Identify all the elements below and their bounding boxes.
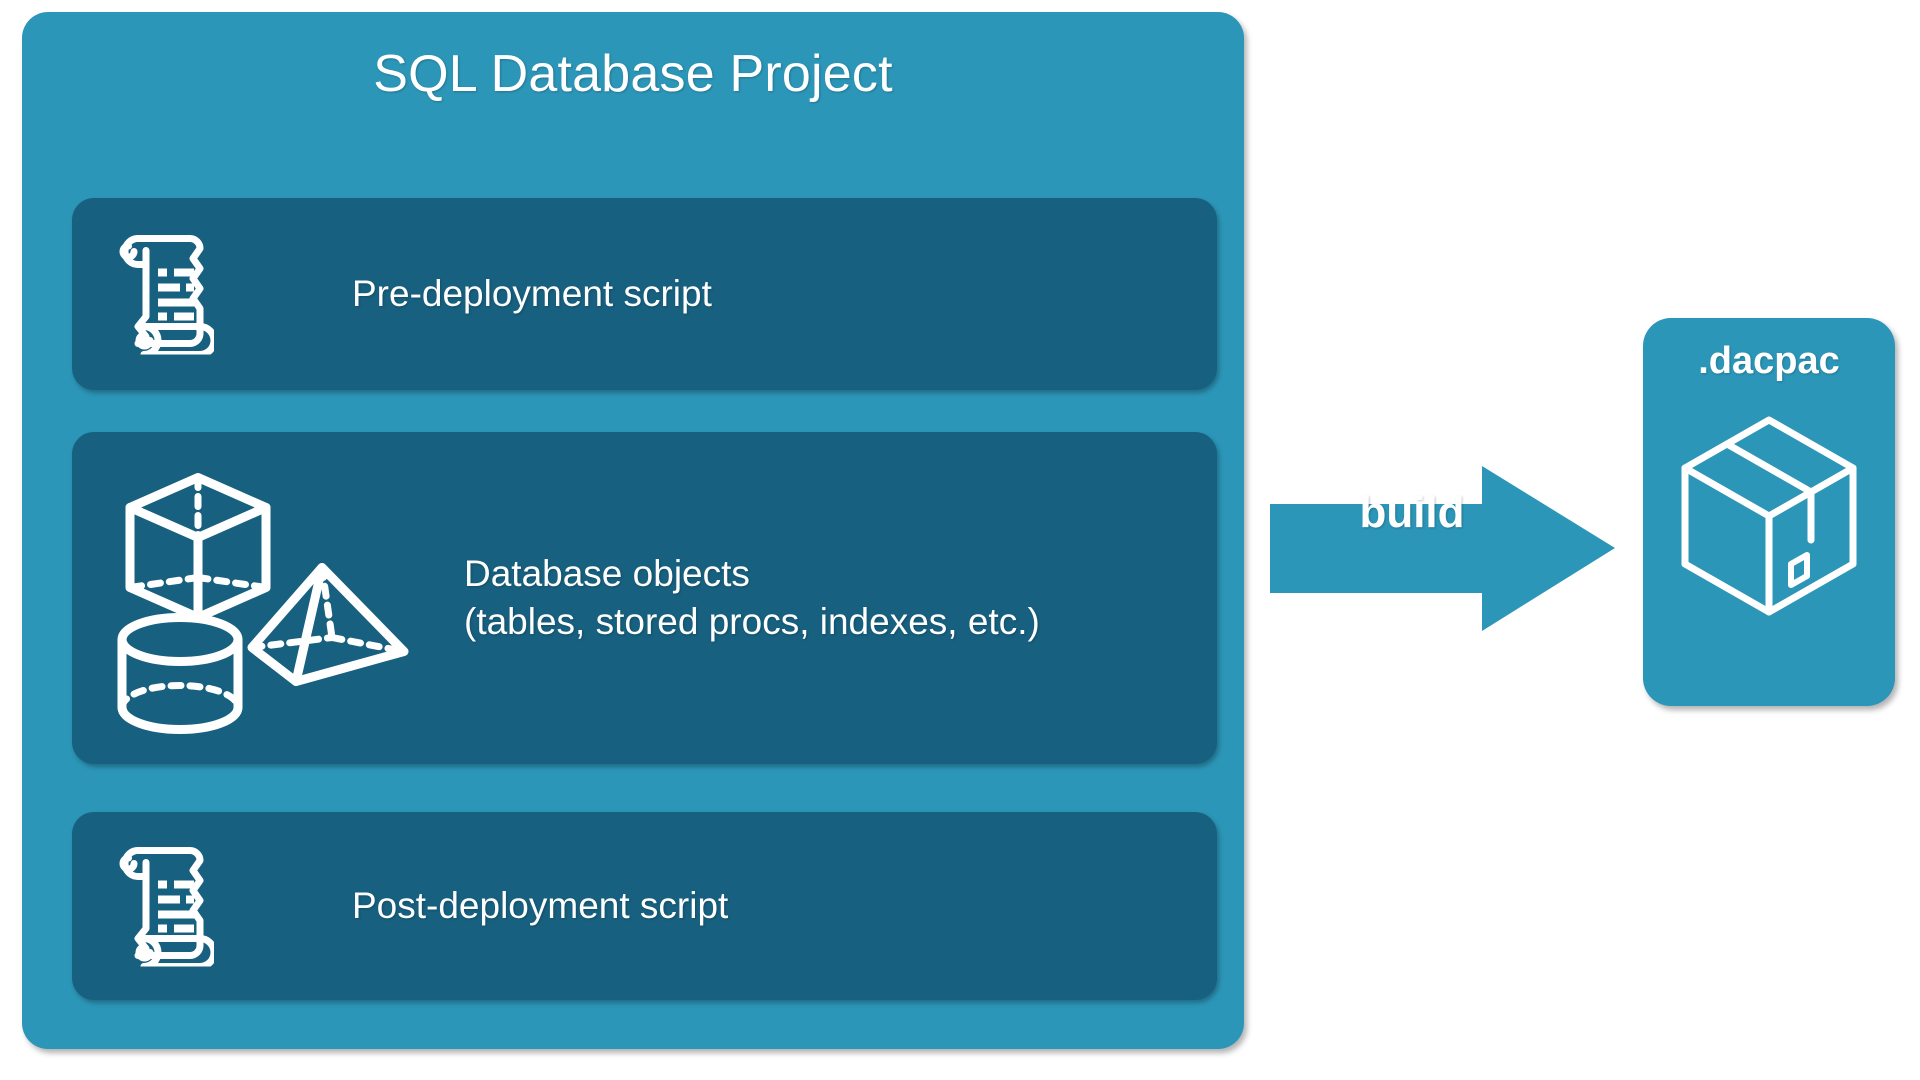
- panel-pre-deployment-label: Pre-deployment script: [352, 270, 712, 318]
- panel-post-deployment-label: Post-deployment script: [352, 882, 728, 930]
- 3d-shapes-icon: [94, 456, 444, 741]
- scroll-icon: [102, 229, 214, 360]
- panel-post-deployment[interactable]: Post-deployment script: [72, 812, 1217, 1000]
- package-box-icon: [1679, 414, 1859, 659]
- scroll-icon: [102, 841, 214, 972]
- project-title: SQL Database Project: [22, 46, 1244, 103]
- panel-database-objects-label: Database objects (tables, stored procs, …: [464, 550, 1040, 646]
- panel-pre-deployment[interactable]: Pre-deployment script: [72, 198, 1217, 390]
- diagram-canvas: SQL Database Project: [0, 0, 1920, 1080]
- dacpac-output-card: .dacpac: [1643, 318, 1895, 706]
- build-arrow-label: build: [1312, 491, 1512, 535]
- panel-database-objects[interactable]: Database objects (tables, stored procs, …: [72, 432, 1217, 764]
- sql-database-project-card: SQL Database Project: [22, 12, 1244, 1049]
- dacpac-title: .dacpac: [1643, 340, 1895, 383]
